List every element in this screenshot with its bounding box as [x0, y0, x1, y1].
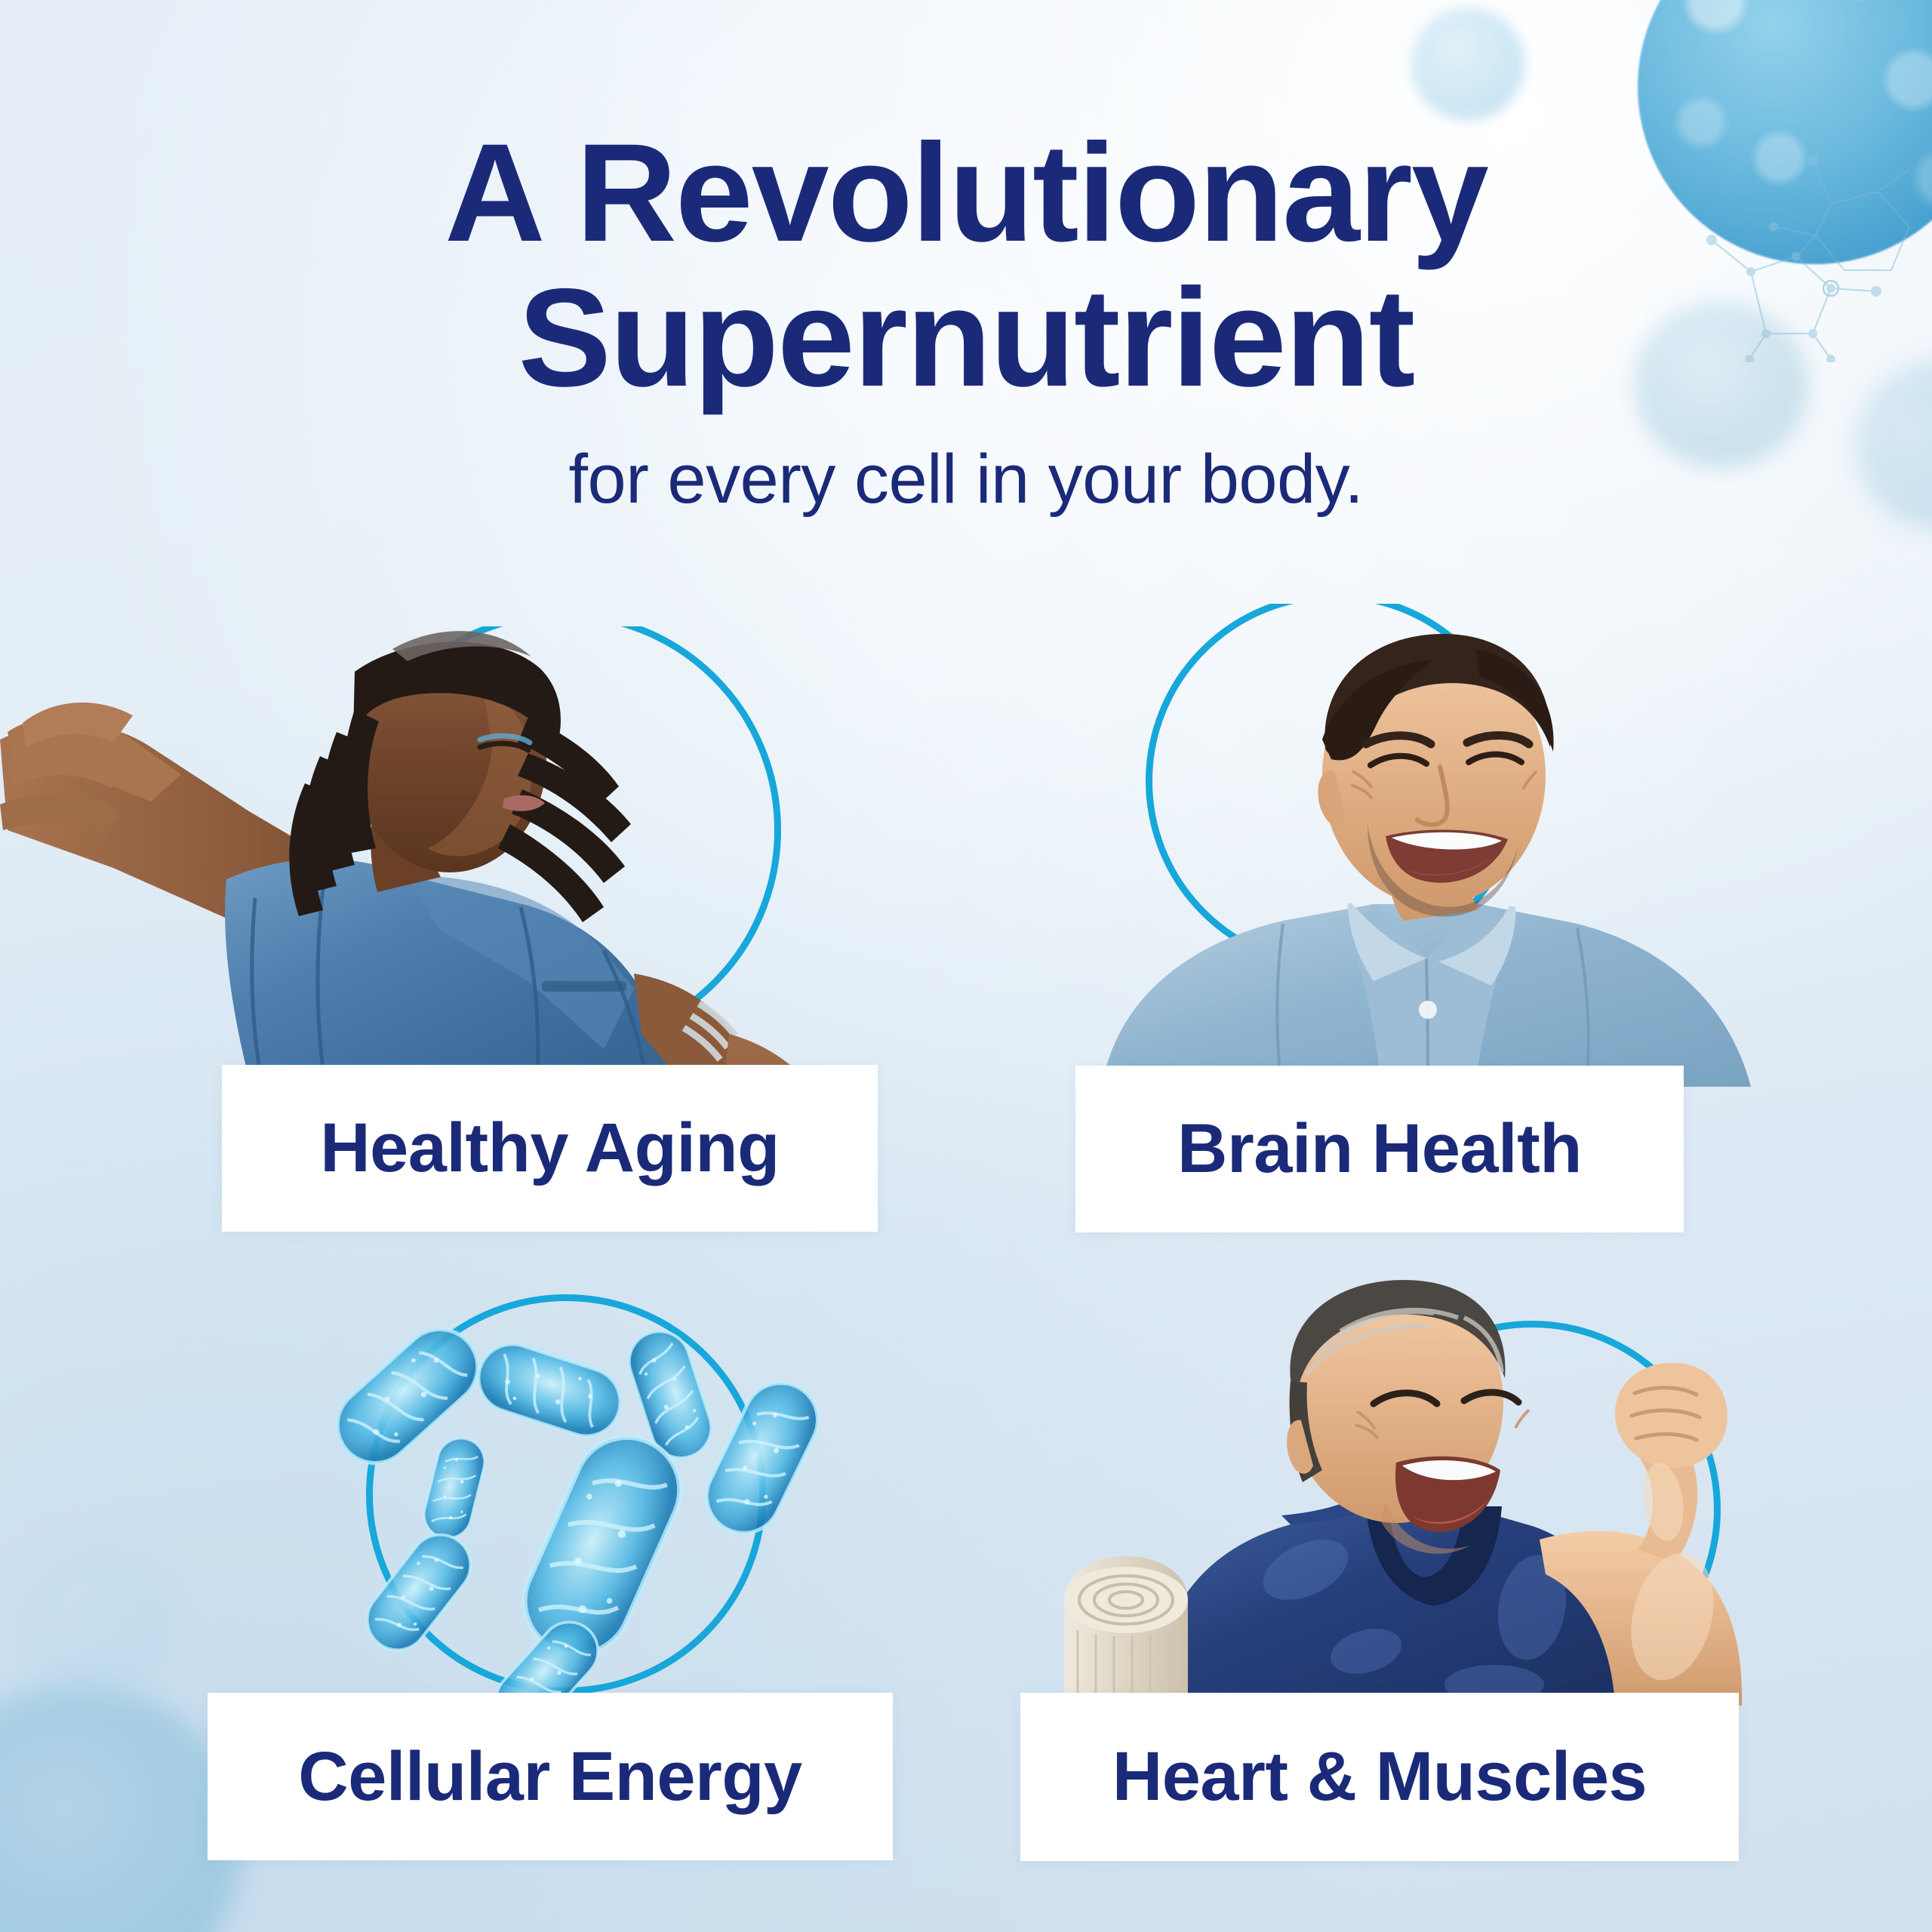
- photo-brain-health: [1057, 604, 1811, 1087]
- label-healthy-aging: Healthy Aging: [222, 1065, 878, 1232]
- title-line-2: Supernutrient: [0, 266, 1932, 411]
- photo-mitochondria: [287, 1283, 875, 1706]
- page-title: A Revolutionary Supernutrient: [0, 0, 1932, 411]
- label-brain-health: Brain Health: [1075, 1066, 1684, 1232]
- decor-cell-bottom-left-2-icon: [23, 1547, 174, 1698]
- tile-healthy-aging-image: [0, 626, 891, 1079]
- yoga-mat-icon: [1064, 1556, 1188, 1706]
- label-cellular-energy: Cellular Energy: [208, 1693, 893, 1860]
- label-heart-muscles: Heart & Muscles: [1020, 1693, 1739, 1861]
- tile-cellular-energy-image: [287, 1283, 875, 1706]
- label-heart-muscles-text: Heart & Muscles: [1112, 1737, 1647, 1817]
- headline-block: A Revolutionary Supernutrient for every …: [0, 0, 1932, 519]
- page-subtitle: for every cell in your body.: [0, 411, 1932, 519]
- promo-graphic: A Revolutionary Supernutrient for every …: [0, 0, 1932, 1932]
- label-brain-health-text: Brain Health: [1177, 1109, 1582, 1189]
- title-line-1: A Revolutionary: [0, 121, 1932, 266]
- tile-heart-muscles-image: [1041, 1275, 1857, 1706]
- label-cellular-energy-text: Cellular Energy: [298, 1737, 801, 1817]
- photo-heart-muscles: [1041, 1275, 1857, 1706]
- photo-healthy-aging: [0, 626, 891, 1079]
- tile-brain-health-image: [1057, 604, 1811, 1087]
- label-healthy-aging-text: Healthy Aging: [320, 1109, 780, 1188]
- decor-cell-bottom-left-icon: [0, 1683, 241, 1932]
